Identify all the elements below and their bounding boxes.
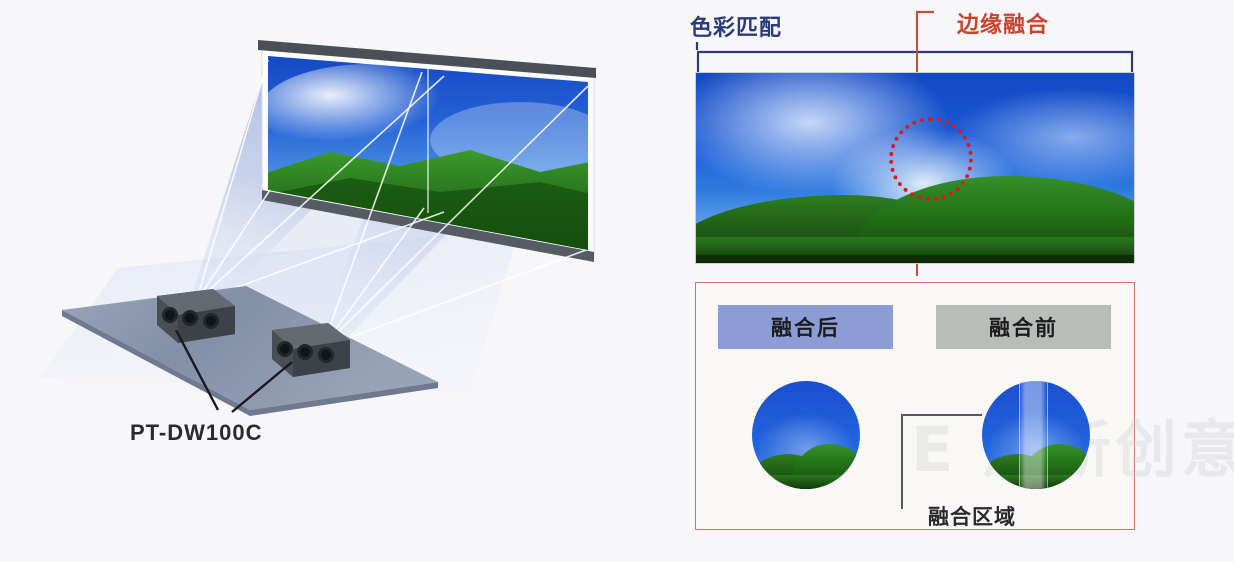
edge-blending-explainer: 色彩匹配 边缘融合 融合后 融 <box>660 0 1234 557</box>
thumbnail-after-blending <box>752 381 860 489</box>
swatch-before-blending: 融合前 <box>936 305 1111 349</box>
blend-comparison-panel: 融合后 融合前 E 展新创意 <box>695 282 1135 530</box>
visible-seam-band <box>1019 381 1047 489</box>
heading-edge-blend: 边缘融合 <box>957 7 1049 39</box>
blend-area-leader <box>896 405 1016 515</box>
hill-shadow <box>696 255 1134 263</box>
projector-model-label: PT-DW100C <box>130 420 262 446</box>
edge-blend-elbow <box>908 4 938 44</box>
seam-edge-right <box>1047 381 1049 489</box>
dual-projector-setup-diagram: PT-DW100C <box>0 0 660 557</box>
seam-edge-left <box>1019 381 1021 489</box>
projector-unit-1 <box>157 289 235 343</box>
label-blend-area: 融合区域 <box>928 501 1016 531</box>
blend-highlight-circle <box>889 117 973 201</box>
heading-color-match: 色彩匹配 <box>690 10 782 42</box>
thumb-after-hills <box>752 444 860 489</box>
projector-setup-svg <box>0 0 660 557</box>
swatch-after-blending: 融合后 <box>718 305 893 349</box>
diagram-canvas: PT-DW100C 色彩匹配 边缘融合 <box>0 0 1234 557</box>
thumb-after-hill-fg <box>752 475 860 489</box>
